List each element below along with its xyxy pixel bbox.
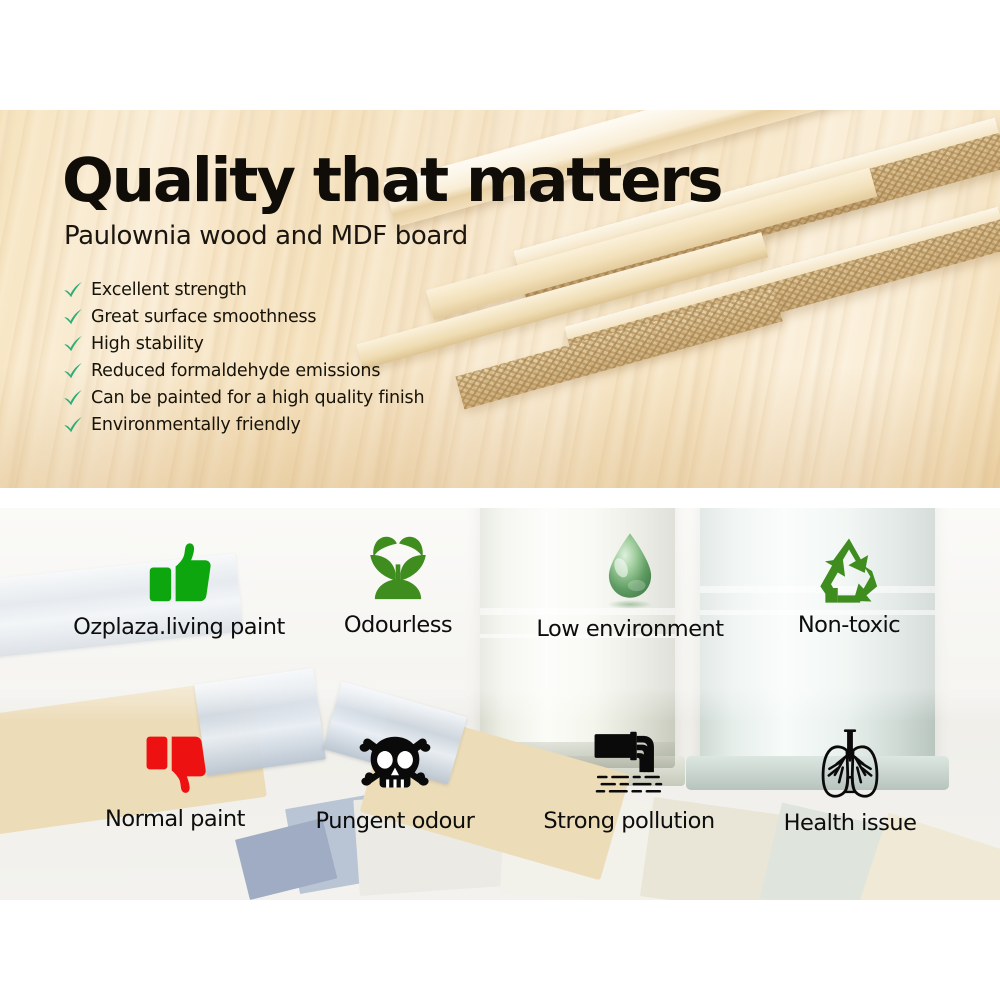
feature-cell-pungent-odour: Pungent odour <box>290 726 500 834</box>
feature-label: Reduced formaldehyde emissions <box>91 361 380 381</box>
feature-cell-non-toxic: Non-toxic <box>760 534 938 638</box>
feature-cell-odourless: Odourless <box>300 532 496 638</box>
check-icon <box>62 360 84 382</box>
check-icon <box>62 306 84 328</box>
wood-quality-panel: Quality that matters Paulownia wood and … <box>0 110 1000 488</box>
skull-crossbones-icon <box>357 726 433 802</box>
list-item: Can be painted for a high quality finish <box>62 385 702 410</box>
paint-comparison-panel: Ozplaza.living paint Odourless <box>0 508 1000 900</box>
water-droplet-icon <box>594 530 666 610</box>
sprout-leaf-icon <box>361 532 435 606</box>
pipe-pollution-icon <box>591 728 667 802</box>
list-item: High stability <box>62 331 702 356</box>
list-item: Reduced formaldehyde emissions <box>62 358 702 383</box>
list-item: Environmentally friendly <box>62 412 702 437</box>
cell-label: Ozplaza.living paint <box>68 614 290 640</box>
lungs-icon <box>811 724 889 804</box>
cell-label: Low environment <box>510 616 750 642</box>
page-title: Quality that matters <box>62 150 702 211</box>
thumbs-down-icon <box>140 730 210 800</box>
cell-label: Strong pollution <box>520 808 738 834</box>
feature-label: Great surface smoothness <box>91 307 316 327</box>
list-item: Excellent strength <box>62 277 702 302</box>
feature-label: Can be painted for a high quality finish <box>91 388 424 408</box>
check-icon <box>62 387 84 409</box>
cell-label: Odourless <box>300 612 496 638</box>
thumbs-up-icon <box>143 536 215 608</box>
white-overlay-fade <box>0 688 1000 722</box>
feature-cell-strong-pollution: Strong pollution <box>520 728 738 834</box>
cell-label: Non-toxic <box>760 612 938 638</box>
check-icon <box>62 333 84 355</box>
check-icon <box>62 414 84 436</box>
product-feature-page: Quality that matters Paulownia wood and … <box>0 0 1000 1000</box>
feature-cell-ozplaza-paint: Ozplaza.living paint <box>68 536 290 640</box>
feature-label: Excellent strength <box>91 280 247 300</box>
cell-label: Health issue <box>760 810 940 836</box>
quality-text-block: Quality that matters Paulownia wood and … <box>62 150 702 439</box>
recycle-icon <box>813 534 885 606</box>
feature-label: High stability <box>91 334 204 354</box>
page-subtitle: Paulownia wood and MDF board <box>64 221 702 251</box>
feature-cell-health-issue: Health issue <box>760 724 940 836</box>
list-item: Great surface smoothness <box>62 304 702 329</box>
feature-label: Environmentally friendly <box>91 415 301 435</box>
feature-cell-low-environment: Low environment <box>510 530 750 642</box>
cell-label: Normal paint <box>80 806 270 832</box>
feature-list: Excellent strength Great surface smoothn… <box>62 277 702 437</box>
check-icon <box>62 279 84 301</box>
feature-cell-normal-paint: Normal paint <box>80 730 270 832</box>
cell-label: Pungent odour <box>290 808 500 834</box>
